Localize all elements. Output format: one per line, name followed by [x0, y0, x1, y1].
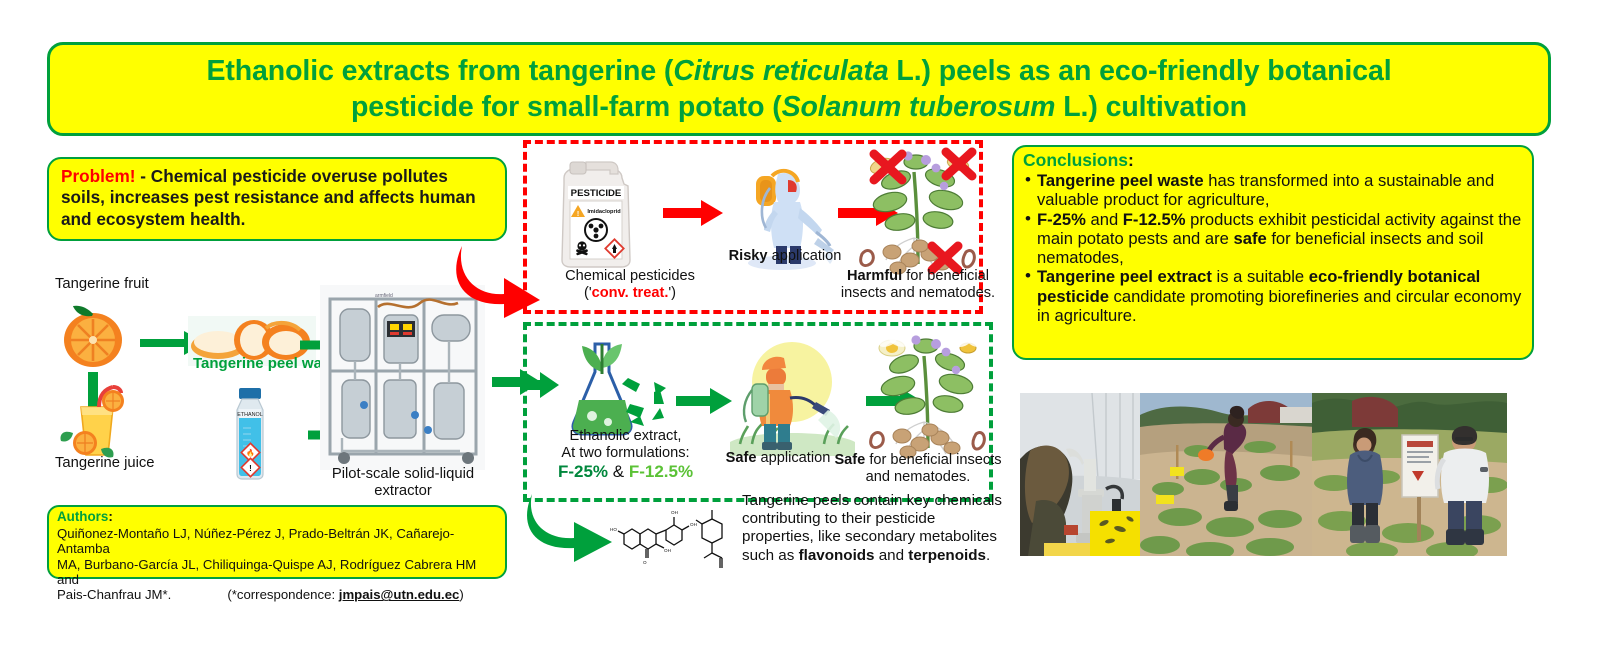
conclusion-2-bold-c: safe: [1233, 229, 1266, 248]
conclusion-2-bold-b: F-12.5%: [1123, 210, 1186, 229]
red-curved-arrow-icon: [448, 240, 548, 320]
ecofriendly-caption-1: Ethanolic extract, At two formulations: …: [538, 428, 713, 482]
harmful-line2: insects and nematodes.: [841, 285, 995, 301]
problem-tag: Problem!: [61, 166, 136, 186]
safe-insects-line2: and nematodes.: [866, 469, 971, 485]
safe-application-bold: Safe: [726, 450, 757, 466]
formulation-12-5: F-12.5%: [629, 462, 693, 481]
chem-terpenoids: terpenoids: [908, 547, 986, 564]
harmful-bold: Harmful: [847, 268, 902, 284]
risky-rest: application: [768, 248, 842, 264]
conv-quote-open: (': [584, 285, 592, 301]
harmful-rest: for beneficial: [902, 268, 989, 284]
pesticide-jerrycan-icon: PESTICIDE ! Imidacloprid: [548, 160, 646, 270]
lab-microscope-photo: [1020, 393, 1145, 556]
title-line1-part-b: L.) peels as an eco-friendly botanical: [889, 55, 1392, 87]
authors-line-3c: ): [459, 587, 463, 602]
safe-insects-rest: for beneficial insects: [865, 452, 1001, 468]
svg-text:armfield: armfield: [375, 293, 393, 299]
conv-treat-tag: conv. treat.: [592, 285, 669, 301]
conclusion-3-mid-a: is a suitable: [1212, 267, 1309, 286]
authors-heading: Authors:: [57, 510, 497, 525]
chem-line-4-c: .: [986, 547, 990, 564]
conventional-caption-1: Chemical pesticides ('conv. treat.'): [540, 268, 720, 302]
conclusion-1-bold: Tangerine peel waste: [1037, 171, 1204, 190]
svg-text:PESTICIDE: PESTICIDE: [571, 188, 622, 199]
authors-list: Quiñonez-Montaño LJ, Núñez-Pérez J, Prad…: [57, 526, 497, 603]
graphical-abstract-poster: Ethanolic extracts from tangerine (Citru…: [0, 0, 1610, 645]
conclusions-box: Conclusions: Tangerine peel waste has tr…: [1012, 145, 1534, 360]
conclusions-heading-label: Conclusions: [1023, 150, 1128, 170]
svg-text:Imidacloprid: Imidacloprid: [587, 209, 621, 215]
green-curved-arrow-icon: [520, 492, 620, 564]
svg-text:HO: HO: [610, 527, 617, 532]
conclusion-2-bold-a: F-25%: [1037, 210, 1086, 229]
safe-applicator-icon: [730, 338, 855, 456]
title-species-1: Citrus reticulata: [673, 55, 888, 87]
authors-line-3a: Pais-Chanfrau JM*.: [57, 587, 171, 602]
tangerine-fruit-icon: [55, 300, 135, 370]
problem-dash: -: [136, 166, 151, 186]
risky-bold: Risky: [729, 248, 768, 264]
svg-text:!: !: [249, 464, 252, 473]
red-arrow-1-icon: [663, 200, 725, 226]
title-line1-part-a: Ethanolic extracts from tangerine (: [206, 55, 673, 87]
authors-line-2: MA, Burbano-García JL, Chiliquinga-Quisp…: [57, 557, 476, 587]
chemistry-description: Tangerine peels contain key chemicals co…: [742, 492, 1012, 565]
safe-potato-plant-icon: [858, 332, 998, 460]
conclusion-item-3: Tangerine peel extract is a suitable eco…: [1023, 267, 1523, 325]
authors-heading-label: Authors: [57, 509, 108, 524]
svg-text:!: !: [577, 211, 579, 218]
authors-correspondence-label: (*correspondence:: [227, 587, 338, 602]
title-line2-part-b: L.) cultivation: [1055, 91, 1247, 123]
green-arrow-in-icon: [524, 372, 560, 398]
conclusion-3-bold-a: Tangerine peel extract: [1037, 267, 1212, 286]
chem-flavonoids: flavonoids: [799, 547, 875, 564]
conclusion-3-rest: candidate promoting biorefineries and ci…: [1037, 287, 1521, 325]
svg-text:OH: OH: [671, 510, 678, 515]
chem-line-3: properties, like secondary metabolites: [742, 528, 997, 545]
svg-text:OH: OH: [690, 522, 697, 527]
safe-application-rest: application: [756, 450, 830, 466]
green-arrow-1-icon: [676, 388, 734, 414]
pilot-extractor-label: Pilot-scale solid-liquid extractor: [308, 466, 498, 500]
problem-statement: Problem! - Chemical pesticide overuse po…: [61, 166, 493, 230]
formulation-25: F-25%: [558, 462, 608, 481]
tangerine-fruit-label: Tangerine fruit: [55, 276, 185, 293]
chem-line-4-a: such as: [742, 547, 799, 564]
problem-box: Problem! - Chemical pesticide overuse po…: [47, 157, 507, 241]
ethanol-bottle-icon: ETHANOL 🔥 !: [215, 388, 285, 480]
svg-text:🔥: 🔥: [246, 448, 255, 457]
tangerine-juice-icon: [55, 385, 141, 460]
conv-caption-line1: Chemical pesticides: [565, 268, 695, 284]
conclusions-list: Tangerine peel waste has transformed int…: [1023, 171, 1523, 325]
ecofriendly-caption-3: Safe for beneficial insects and nematode…: [830, 452, 1006, 486]
chem-line-2: contributing to their pesticide: [742, 510, 935, 527]
poster-title-box: Ethanolic extracts from tangerine (Citru…: [47, 42, 1551, 136]
svg-text:O: O: [643, 560, 647, 565]
conclusions-heading-colon: :: [1128, 150, 1134, 170]
authors-email[interactable]: jmpais@utn.edu.ec: [339, 587, 460, 602]
conclusion-2-mid-a: and: [1086, 210, 1123, 229]
tangerine-juice-label: Tangerine juice: [55, 455, 185, 472]
conv-quote-close: '): [668, 285, 676, 301]
poster-title: Ethanolic extracts from tangerine (Citru…: [190, 53, 1407, 126]
field-application-photo: [1140, 393, 1315, 556]
title-line2-part-a: pesticide for small-farm potato (: [351, 91, 782, 123]
eco-caption-line2: At two formulations:: [561, 445, 689, 461]
formulation-amp: &: [608, 462, 629, 481]
conventional-caption-2: Risky application: [690, 248, 880, 265]
conclusion-item-1: Tangerine peel waste has transformed int…: [1023, 171, 1523, 209]
safe-insects-bold: Safe: [834, 452, 865, 468]
authors-heading-colon: :: [108, 509, 112, 524]
title-species-2: Solanum tuberosum: [782, 91, 1056, 123]
conclusions-heading: Conclusions:: [1023, 151, 1523, 170]
team-field-photo: [1312, 393, 1507, 556]
svg-text:OH: OH: [664, 548, 671, 553]
authors-line-1: Quiñonez-Montaño LJ, Núñez-Pérez J, Prad…: [57, 526, 454, 556]
chem-line-1: Tangerine peels contain key chemicals: [742, 492, 1002, 509]
conclusion-item-2: F-25% and F-12.5% products exhibit pesti…: [1023, 210, 1523, 268]
svg-text:ETHANOL: ETHANOL: [237, 412, 262, 418]
authors-box: Authors: Quiñonez-Montaño LJ, Núñez-Pére…: [47, 505, 507, 579]
conventional-caption-3: Harmful for beneficial insects and nemat…: [828, 268, 1008, 302]
eco-caption-line1: Ethanolic extract,: [570, 428, 682, 444]
flavonoid-terpenoid-structures-icon: HOOHOHOH O: [610, 500, 735, 576]
chem-line-4-b: and: [875, 547, 909, 564]
